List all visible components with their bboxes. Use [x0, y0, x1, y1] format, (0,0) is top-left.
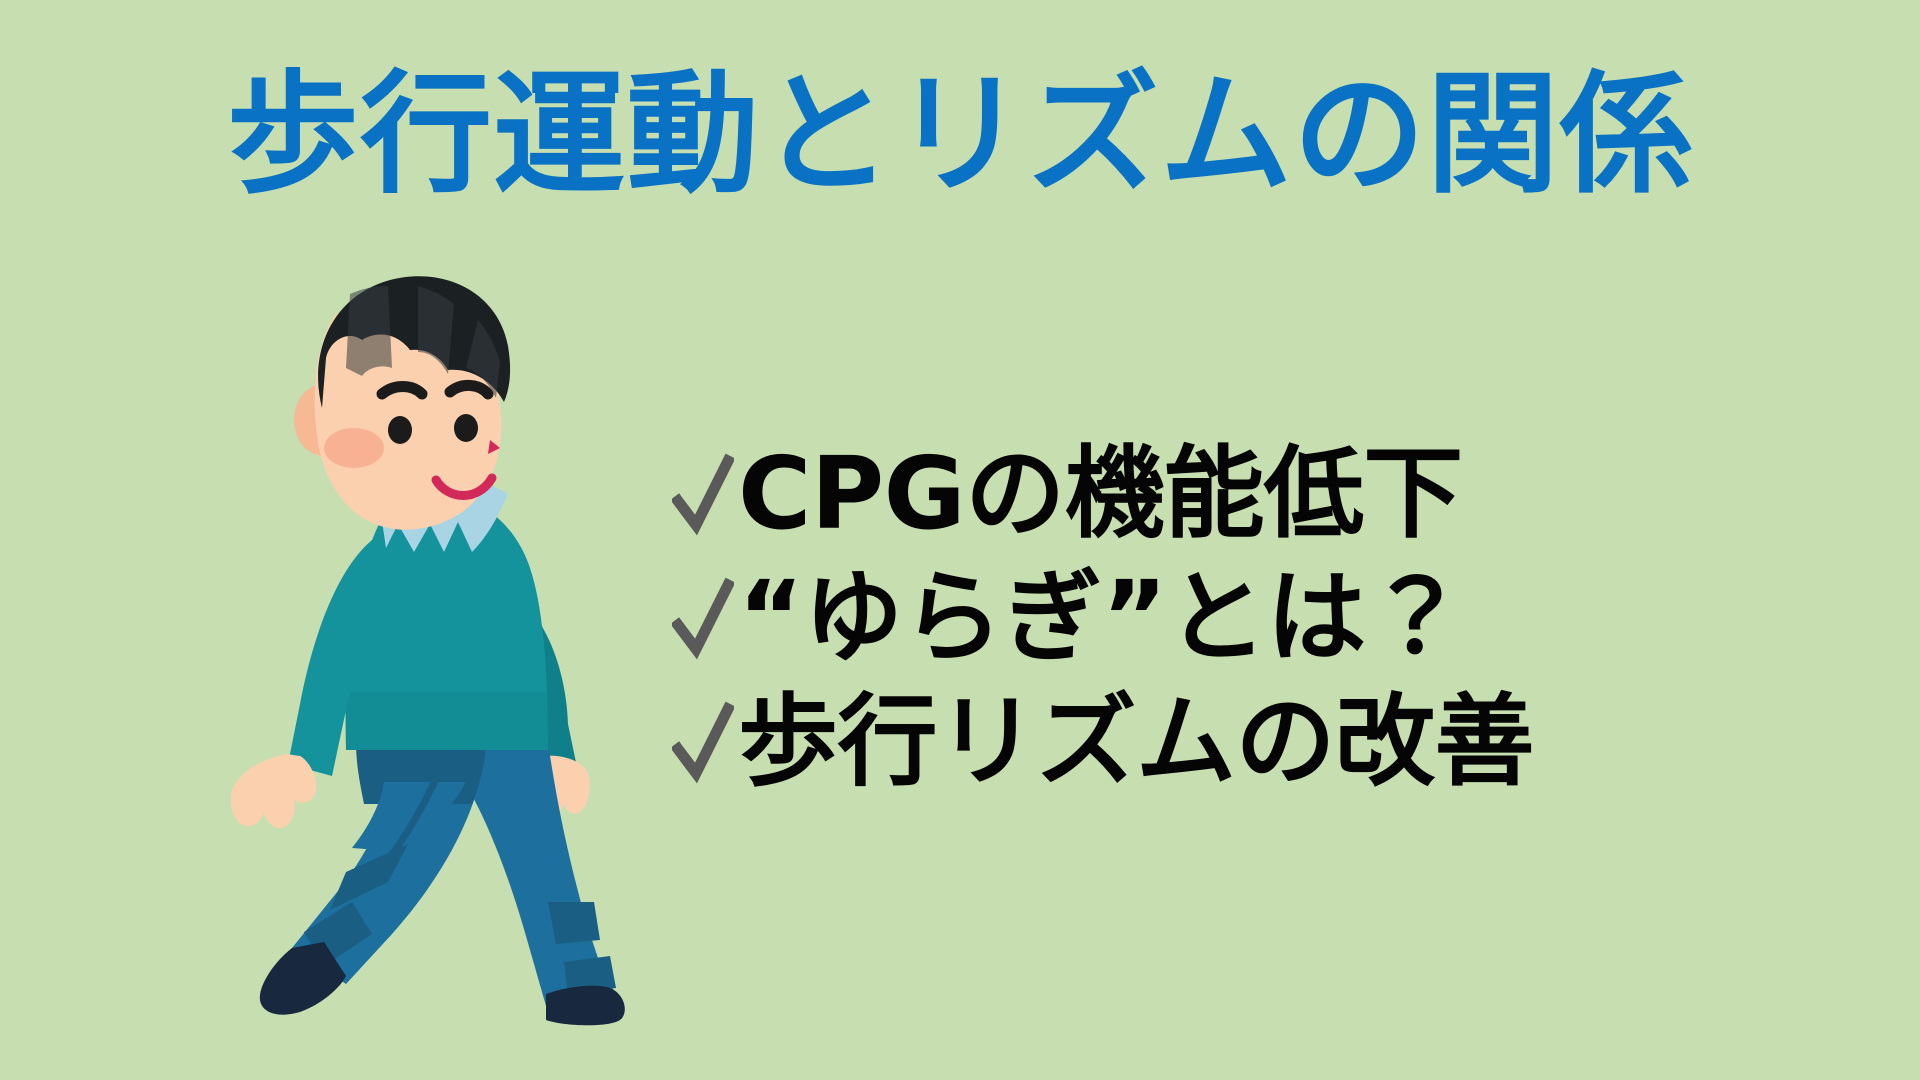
- eye-right: [454, 414, 478, 442]
- list-item: 歩行リズムの改善: [672, 680, 1802, 804]
- bullet-label: CPGの機能低下: [738, 444, 1463, 544]
- eye-left: [388, 416, 412, 444]
- cheek: [324, 428, 384, 468]
- check-icon: [672, 575, 734, 661]
- bullet-label: 歩行リズムの改善: [738, 692, 1534, 792]
- check-icon: [672, 699, 734, 785]
- check-icon: [672, 451, 734, 537]
- list-item: “ゆらぎ”とは？: [672, 556, 1802, 680]
- bullet-list: CPGの機能低下 “ゆらぎ”とは？ 歩行リズムの改善: [672, 432, 1802, 804]
- bullet-label: “ゆらぎ”とは？: [738, 568, 1465, 668]
- head: [294, 276, 510, 529]
- list-item: CPGの機能低下: [672, 432, 1802, 556]
- back-leg: [454, 742, 625, 1025]
- slide-canvas: 歩行運動とリズムの関係: [0, 0, 1920, 1080]
- walking-man-illustration: [196, 272, 636, 1032]
- page-title: 歩行運動とリズムの関係: [0, 58, 1920, 214]
